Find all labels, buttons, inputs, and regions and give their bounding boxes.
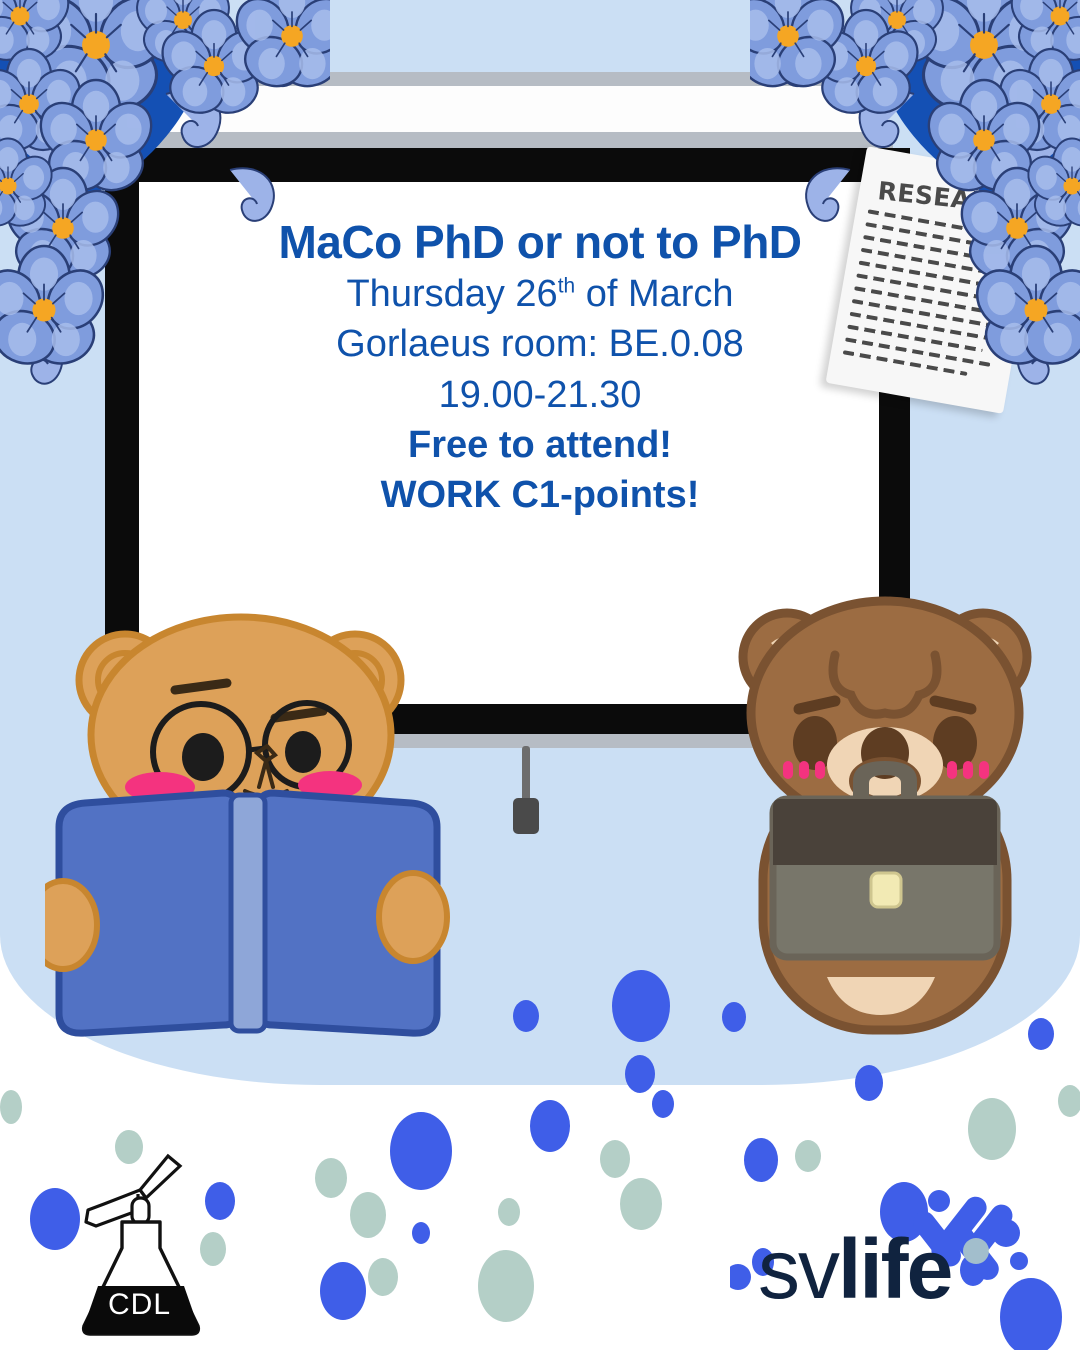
svlife-wordmark: svlife xyxy=(758,1227,951,1311)
event-date-tail: of March xyxy=(575,273,733,315)
business-bear-with-briefcase xyxy=(735,585,1035,1040)
confetti-dot xyxy=(652,1090,674,1118)
confetti-dot xyxy=(612,970,670,1042)
floral-corner-left xyxy=(0,0,330,430)
screen-pull-grip[interactable] xyxy=(513,798,539,834)
confetti-dot xyxy=(320,1262,366,1320)
cdl-logo-label: CDL xyxy=(72,1288,207,1322)
confetti-dot xyxy=(412,1222,430,1244)
confetti-dot xyxy=(600,1140,630,1178)
confetti-dot xyxy=(1028,1018,1054,1050)
svlife-bold-text: life xyxy=(838,1222,951,1316)
screen-pull-cord[interactable] xyxy=(522,746,530,806)
confetti-dot xyxy=(1058,1085,1080,1117)
confetti-dot xyxy=(350,1192,386,1238)
floral-corner-right xyxy=(750,0,1080,430)
event-date-ordinal: th xyxy=(558,275,575,298)
studious-bear-with-book xyxy=(45,605,465,1045)
confetti-dot xyxy=(205,1182,235,1220)
confetti-dot xyxy=(315,1158,347,1198)
confetti-dot xyxy=(390,1112,452,1190)
confetti-dot xyxy=(722,1002,746,1032)
event-date-prefix: Thursday 26 xyxy=(346,273,557,315)
event-points: WORK C1-points! xyxy=(0,470,1080,520)
confetti-dot xyxy=(530,1100,570,1152)
confetti-dot xyxy=(625,1055,655,1093)
confetti-dot xyxy=(795,1140,821,1172)
confetti-dot xyxy=(513,1000,539,1032)
svlife-light-text: sv xyxy=(758,1222,838,1316)
confetti-dot xyxy=(368,1258,398,1296)
confetti-dot xyxy=(498,1198,520,1226)
confetti-dot xyxy=(620,1178,662,1230)
cdl-logo: CDL xyxy=(72,1150,207,1340)
confetti-dot xyxy=(855,1065,883,1101)
confetti-dot xyxy=(0,1090,22,1124)
confetti-dot xyxy=(968,1098,1016,1160)
confetti-dot xyxy=(478,1250,534,1322)
svlife-logo: svlife xyxy=(730,1185,1030,1315)
poster-root: MaCo PhD or not to PhD Thursday 26th of … xyxy=(0,0,1080,1350)
confetti-dot xyxy=(744,1138,778,1182)
